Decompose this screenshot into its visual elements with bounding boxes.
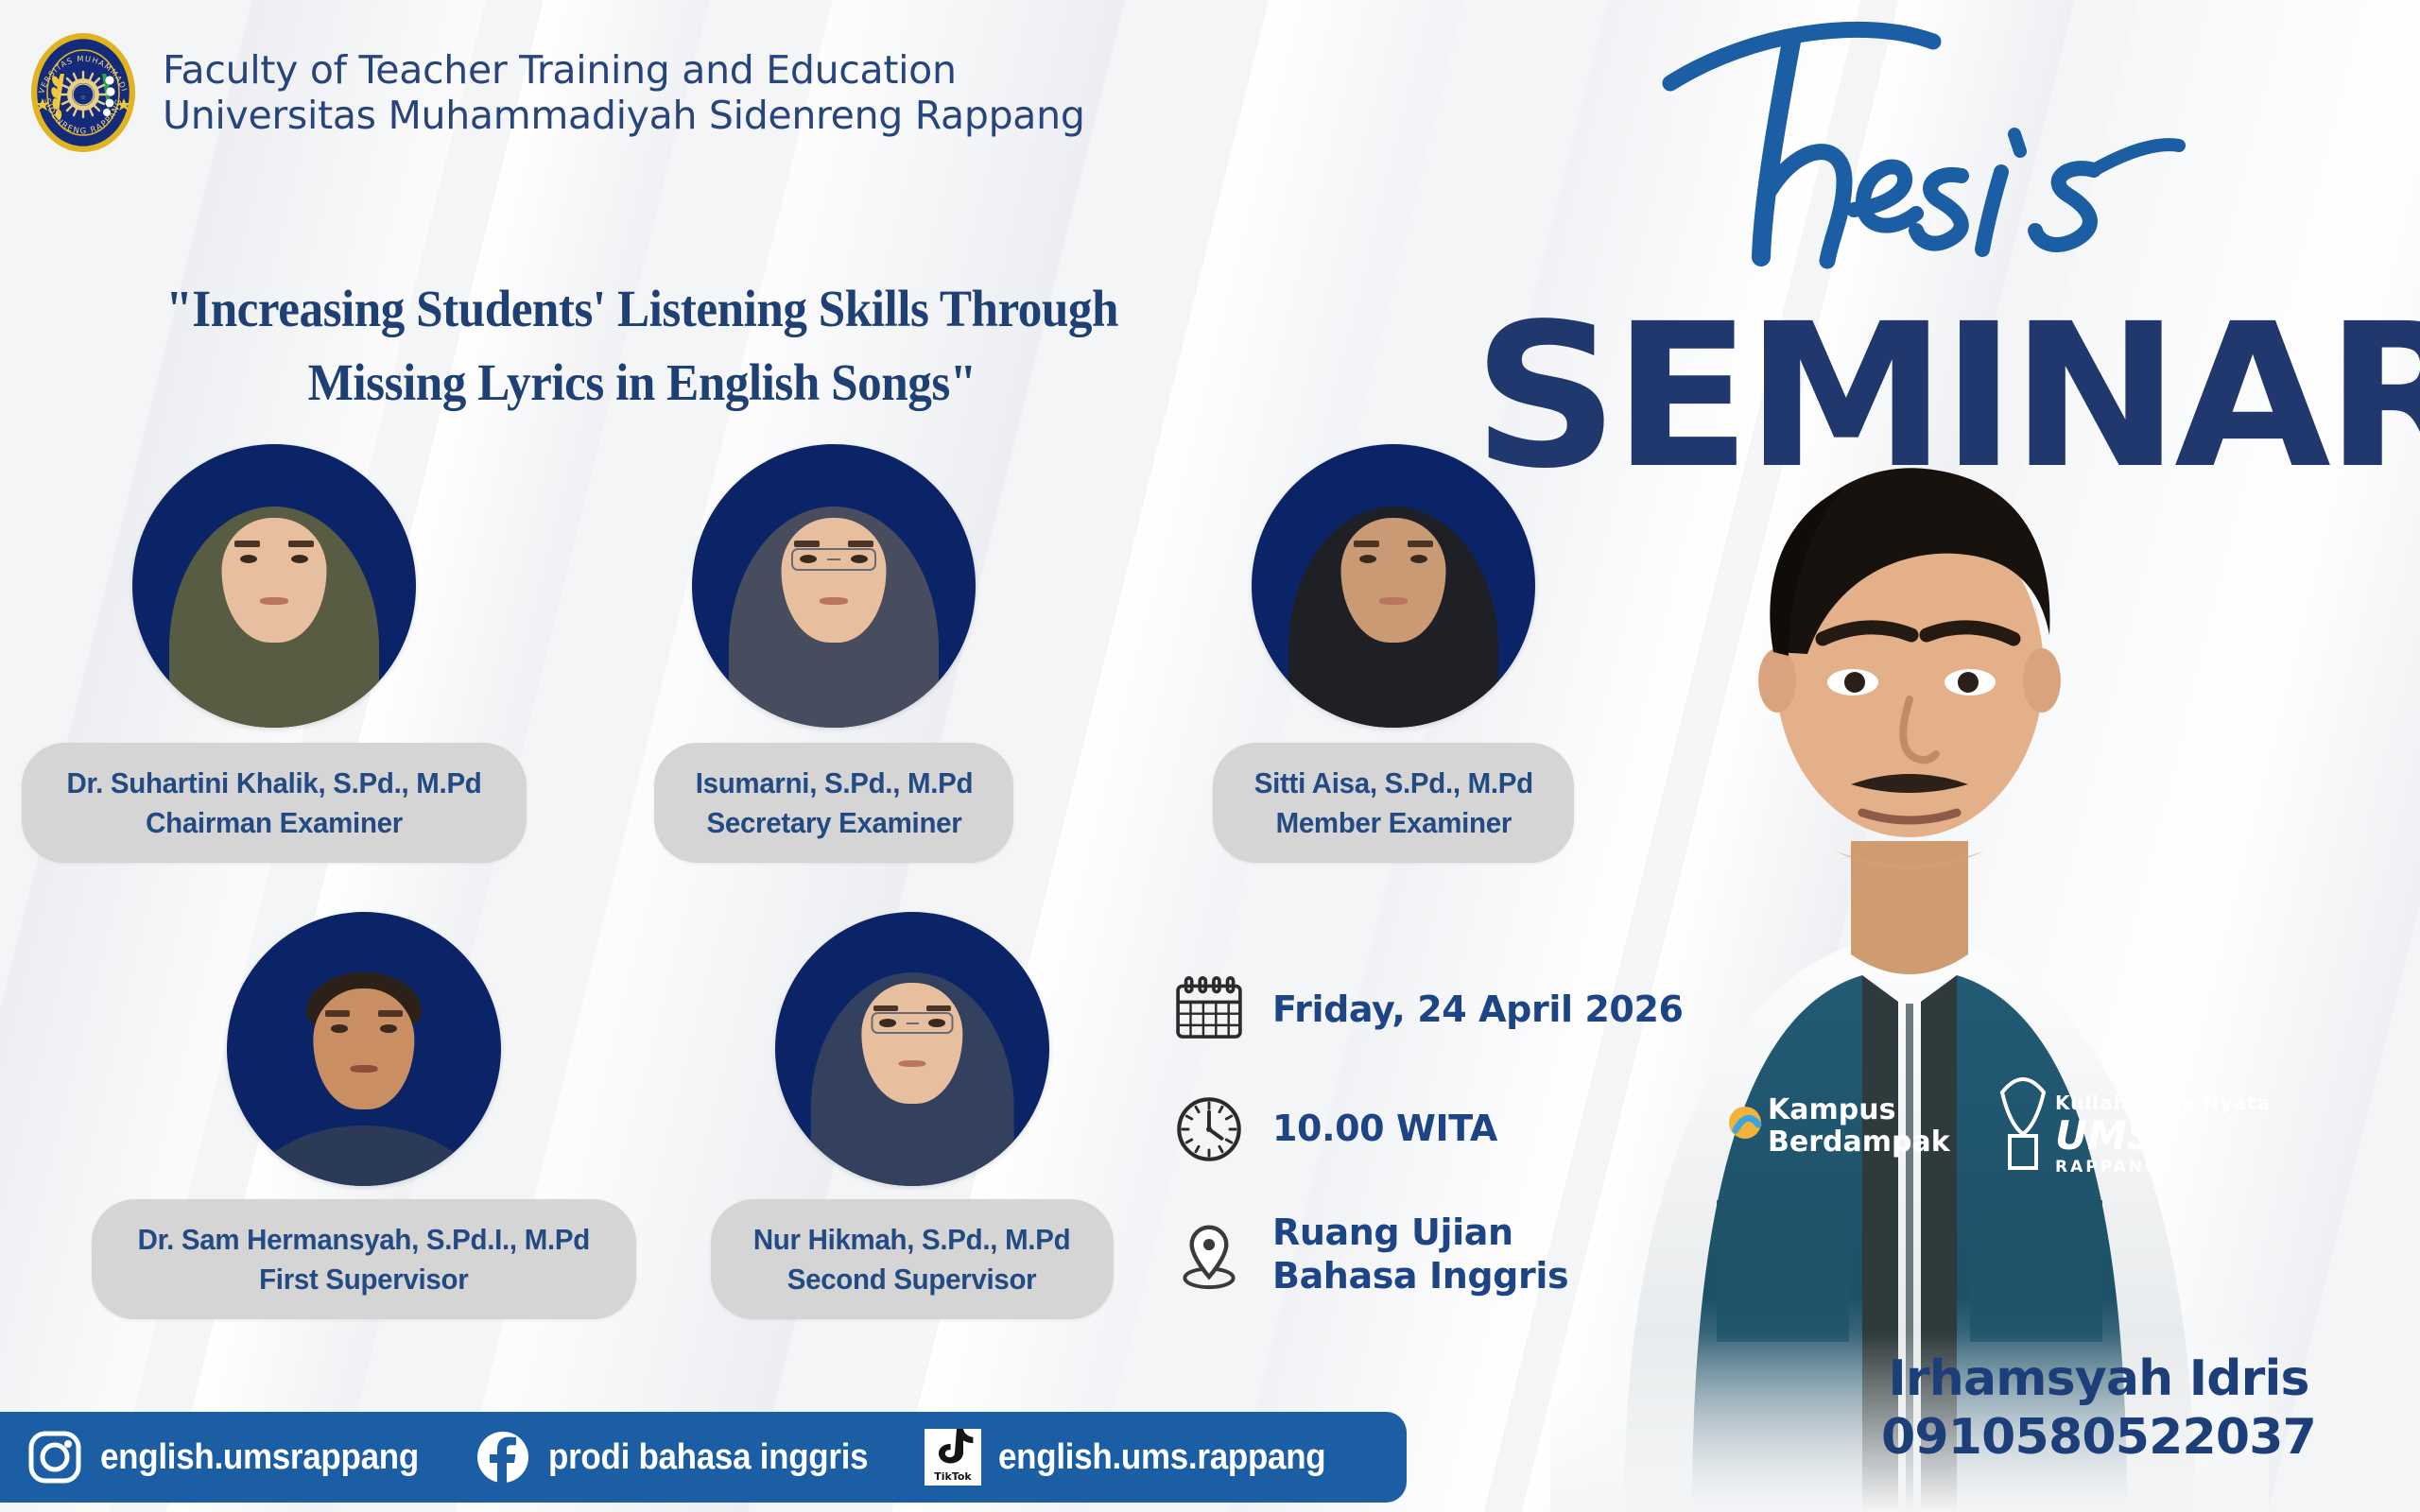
avatar [227, 912, 501, 1186]
svg-text:UMS: UMS [2055, 1112, 2155, 1159]
committee-pill: Sitti Aisa, S.Pd., M.Pd Member Examiner [1213, 743, 1575, 863]
committee-pill: Isumarni, S.Pd., M.Pd Secretary Examiner [654, 743, 1014, 863]
student-id-number: 0910580522037 [1881, 1409, 2316, 1467]
svg-text:RAPPANG: RAPPANG [2055, 1158, 2161, 1177]
svg-text:Kampus: Kampus [1768, 1093, 1895, 1126]
committee-role: Chairman Examiner [67, 803, 482, 843]
event-venue: Ruang Ujian Bahasa Inggris [1272, 1211, 1568, 1297]
student-name: Irhamsyah Idris [1881, 1350, 2316, 1408]
faculty-line-2: Universitas Muhammadiyah Sidenreng Rappa… [163, 93, 1085, 138]
event-venue-line-1: Ruang Ujian [1272, 1211, 1568, 1255]
thesis-title-line-1: "Increasing Students' Listening Skills T… [66, 272, 1218, 346]
eyeglasses-icon [872, 1012, 954, 1034]
social-item-tiktok[interactable]: TikTok english.ums.rappang [925, 1429, 1354, 1486]
committee-name: Isumarni, S.Pd., M.Pd [695, 764, 972, 803]
thesis-title-line-2: Missing Lyrics in English Songs" [66, 346, 1218, 420]
avatar [132, 444, 416, 728]
committee-role: Member Examiner [1253, 803, 1532, 843]
committee-member: Dr. Sam Hermansyah, S.Pd.I., M.Pd First … [142, 912, 586, 1319]
svg-text:Kuliah Kerja Nyata: Kuliah Kerja Nyata [2055, 1091, 2269, 1114]
faculty-line-1: Faculty of Teacher Training and Educatio… [163, 47, 1085, 93]
committee-member: Dr. Suhartini Khalik, S.Pd., M.Pd Chairm… [28, 444, 520, 863]
committee-role: Secretary Examiner [695, 803, 972, 843]
svg-text:Berdampak: Berdampak [1768, 1125, 1951, 1159]
avatar [775, 912, 1049, 1186]
social-handle[interactable]: english.umsrappang [100, 1437, 419, 1478]
map-pin-icon [1172, 1218, 1246, 1292]
committee-role: Second Supervisor [753, 1260, 1070, 1299]
social-handle[interactable]: prodi bahasa inggris [548, 1437, 868, 1478]
student-photo: Kampus Berdampak Kuliah Kerja Nyata UMS … [1550, 274, 2269, 1512]
instagram-icon[interactable] [26, 1429, 83, 1486]
eyeglasses-icon [791, 548, 876, 571]
committee-name: Sitti Aisa, S.Pd., M.Pd [1253, 764, 1532, 803]
thesis-title: "Increasing Students' Listening Skills T… [66, 272, 1218, 420]
facebook-icon[interactable] [475, 1429, 531, 1486]
poster-header: ۞ UNIVERSITAS MUHAMMADIYAH SIDENRENG RAP… [26, 28, 1085, 157]
tiktok-icon[interactable]: TikTok [925, 1429, 981, 1486]
committee-pill: Nur Hikmah, S.Pd., M.Pd Second Superviso… [711, 1199, 1113, 1319]
committee-name: Nur Hikmah, S.Pd., M.Pd [753, 1220, 1070, 1260]
student-identity: Irhamsyah Idris 0910580522037 [1881, 1350, 2316, 1467]
event-venue-line-2: Bahasa Inggris [1272, 1255, 1568, 1298]
university-logo: ۞ UNIVERSITAS MUHAMMADIYAH SIDENRENG RAP… [26, 28, 140, 157]
social-item-facebook[interactable]: prodi bahasa inggris [475, 1429, 896, 1486]
svg-text:TikTok: TikTok [934, 1470, 972, 1483]
avatar [692, 444, 976, 728]
clock-icon [1172, 1092, 1246, 1166]
committee-member: Isumarni, S.Pd., M.Pd Secretary Examiner [588, 444, 1080, 863]
committee-pill: Dr. Suhartini Khalik, S.Pd., M.Pd Chairm… [22, 743, 527, 863]
committee-member: Nur Hikmah, S.Pd., M.Pd Second Superviso… [690, 912, 1134, 1319]
committee-name: Dr. Sam Hermansyah, S.Pd.I., M.Pd [138, 1220, 590, 1260]
event-time: 10.00 WITA [1272, 1108, 1497, 1151]
committee-name: Dr. Suhartini Khalik, S.Pd., M.Pd [67, 764, 482, 803]
committee-row-examiners: Dr. Suhartini Khalik, S.Pd., M.Pd Chairm… [0, 444, 1664, 863]
thesis-script-wordmark [1650, 9, 2255, 274]
committee-role: First Supervisor [138, 1260, 590, 1299]
faculty-name: Faculty of Teacher Training and Educatio… [163, 47, 1085, 139]
committee-pill: Dr. Sam Hermansyah, S.Pd.I., M.Pd First … [92, 1199, 636, 1319]
social-handle[interactable]: english.ums.rappang [998, 1437, 1325, 1478]
social-item-instagram[interactable]: english.umsrappang [26, 1429, 446, 1486]
social-media-bar: english.umsrappang prodi bahasa inggris … [0, 1412, 1407, 1503]
calendar-icon [1172, 973, 1246, 1047]
